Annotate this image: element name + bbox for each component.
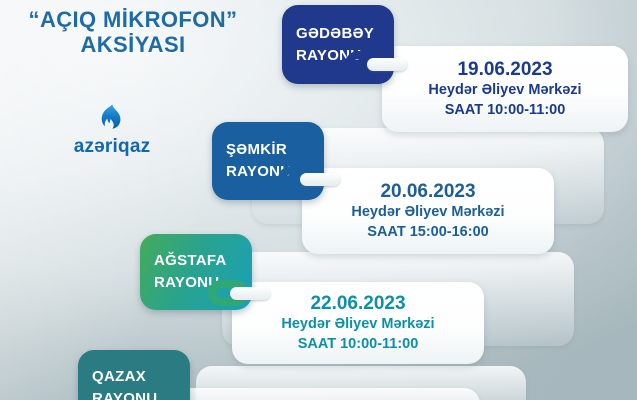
- card-date: 19.06.2023: [457, 58, 552, 82]
- region-tag-semkir[interactable]: ŞƏMKİR RAYONU: [212, 122, 324, 200]
- region-tag-suffix: RAYONU: [226, 161, 324, 183]
- gas-flame-icon: [100, 104, 124, 134]
- card-time: SAAT 10:00-11:00: [298, 335, 419, 355]
- brand-logo: azəriqaz: [58, 104, 166, 158]
- poster-canvas: “AÇIQ MİKROFON” AKSİYASI azəriqaz 19.06.: [0, 0, 637, 400]
- card-venue: Heydər Əliyev Mərkəzi: [351, 203, 504, 223]
- poster-title: “AÇIQ MİKROFON” AKSİYASI: [8, 8, 258, 57]
- region-tag-suffix: RAYONU: [296, 45, 394, 67]
- brand-name: azəriqaz: [58, 136, 166, 158]
- card-time: SAAT 15:00-16:00: [367, 223, 488, 243]
- region-tag-agstafa[interactable]: AĞSTAFA RAYONU: [140, 234, 252, 310]
- region-tag-qazax[interactable]: QAZAX RAYONU: [78, 350, 190, 400]
- region-tag-name: GƏDƏBƏY: [296, 23, 394, 45]
- schedule-card-3: 22.06.2023 Heydər Əliyev Mərkəzi SAAT 10…: [232, 282, 484, 364]
- card-date: 22.06.2023: [310, 292, 405, 316]
- region-tag-suffix: RAYONU: [154, 272, 252, 294]
- schedule-card-2: 20.06.2023 Heydər Əliyev Mərkəzi SAAT 15…: [302, 168, 554, 254]
- schedule-card-1: 19.06.2023 Heydər Əliyev Mərkəzi SAAT 10…: [382, 46, 628, 132]
- poster-title-line1: “AÇIQ MİKROFON”: [8, 8, 258, 33]
- region-tag-name: ŞƏMKİR: [226, 139, 324, 161]
- region-tag-name: AĞSTAFA: [154, 250, 252, 272]
- region-tag-suffix: RAYONU: [92, 388, 190, 400]
- card-venue: Heydər Əliyev Mərkəzi: [428, 81, 581, 101]
- region-tag-gedebey[interactable]: GƏDƏBƏY RAYONU: [282, 5, 394, 84]
- region-tag-name: QAZAX: [92, 366, 190, 388]
- card-time: SAAT 10:00-11:00: [445, 101, 566, 121]
- ghost-card-4: [160, 388, 480, 400]
- card-date: 20.06.2023: [380, 180, 475, 204]
- poster-title-line2: AKSİYASI: [8, 33, 258, 58]
- card-venue: Heydər Əliyev Mərkəzi: [281, 315, 434, 335]
